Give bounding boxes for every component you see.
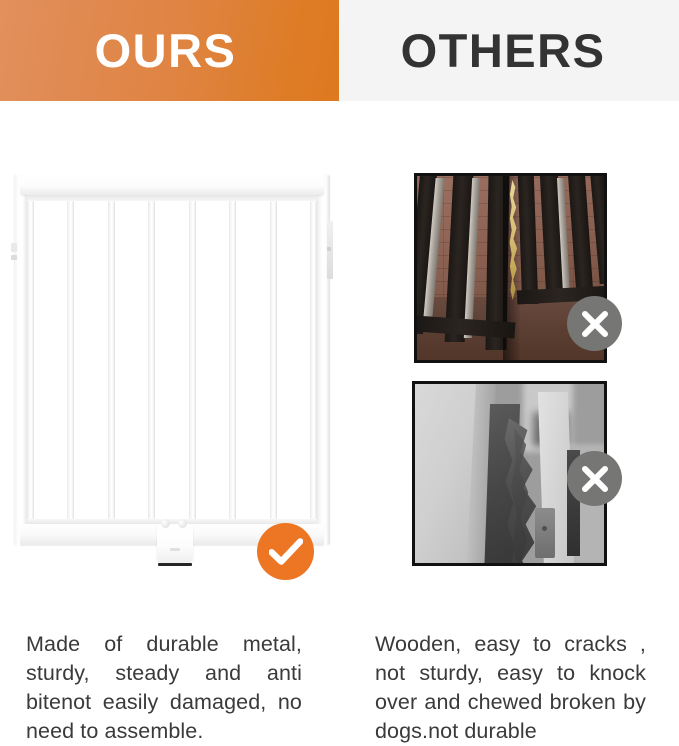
cross-badge bbox=[567, 451, 622, 506]
gate-bar bbox=[229, 201, 236, 519]
gate-right-post bbox=[317, 175, 330, 545]
gate-vertical-bars bbox=[27, 201, 317, 519]
cross-badge bbox=[567, 296, 622, 351]
others-panel bbox=[339, 101, 679, 608]
comparison-header: OURS OTHERS bbox=[0, 0, 679, 101]
bracket-slot bbox=[170, 548, 180, 551]
gate-left-hinge-upper bbox=[11, 243, 17, 252]
bracket-screw bbox=[161, 519, 170, 528]
ours-panel bbox=[0, 101, 339, 608]
gate-bar bbox=[148, 201, 155, 519]
ours-header-banner: OURS bbox=[0, 0, 339, 101]
gate-bar bbox=[310, 201, 317, 519]
gate-bar bbox=[189, 201, 196, 519]
ours-description: Made of durable metal, sturdy, steady an… bbox=[26, 630, 302, 746]
check-icon bbox=[269, 538, 303, 566]
others-header-label: OTHERS bbox=[401, 27, 606, 74]
gate-bar bbox=[67, 201, 74, 519]
hinge-screw bbox=[542, 526, 547, 531]
cross-icon bbox=[580, 309, 610, 339]
gate-bar bbox=[27, 201, 34, 519]
others-description: Wooden, easy to cracks , not sturdy, eas… bbox=[375, 630, 646, 746]
gate-top-rail bbox=[20, 175, 324, 195]
gate-left-hinge-lower bbox=[11, 255, 17, 260]
comparison-infographic: OURS OTHERS bbox=[0, 0, 679, 728]
others-header-banner: OTHERS bbox=[339, 0, 679, 101]
bracket-foot bbox=[158, 563, 192, 566]
white-metal-gate-image bbox=[14, 175, 330, 545]
gate-mounting-bracket bbox=[157, 524, 193, 562]
door-hinge-plate bbox=[535, 508, 555, 558]
gate-bar bbox=[270, 201, 277, 519]
check-badge bbox=[257, 523, 314, 580]
gate-right-hinge-pin bbox=[327, 247, 331, 251]
gate-bar bbox=[108, 201, 115, 519]
bracket-screw bbox=[178, 519, 187, 528]
ours-header-label: OURS bbox=[95, 27, 237, 74]
cross-icon bbox=[580, 464, 610, 494]
gate-left-post bbox=[14, 175, 27, 545]
